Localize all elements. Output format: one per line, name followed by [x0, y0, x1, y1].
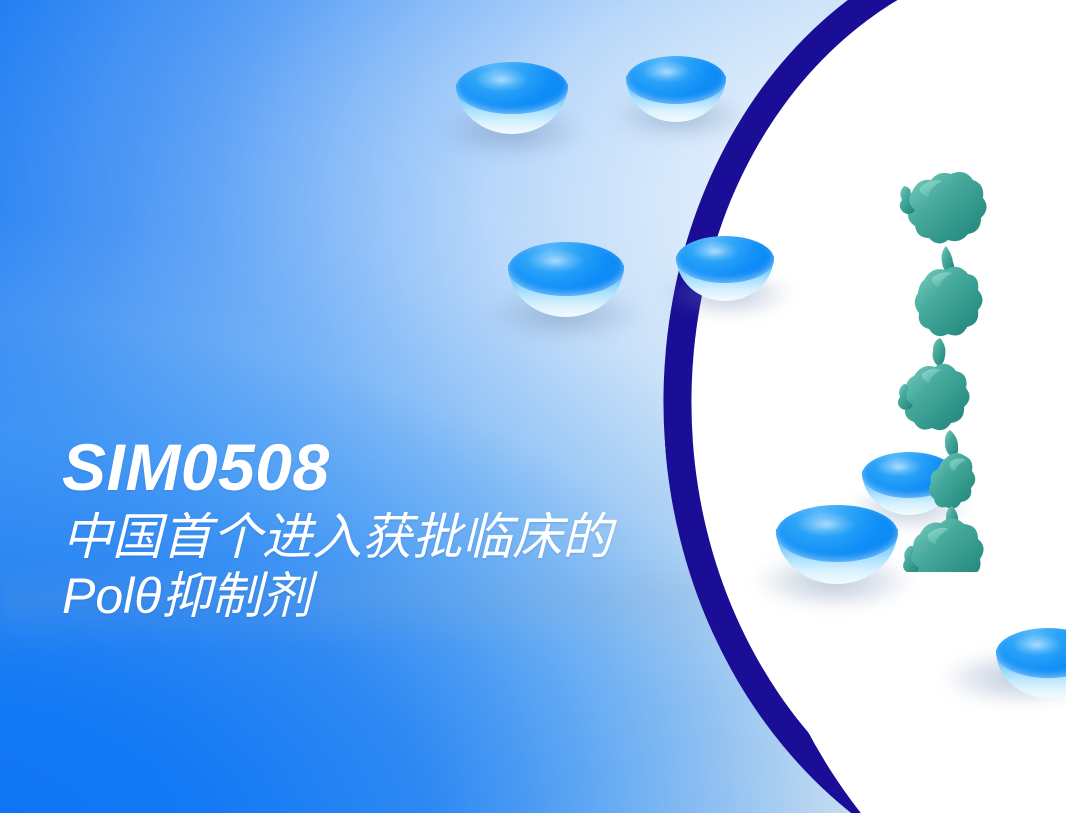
tablet-top-right — [626, 56, 726, 138]
page-title: SIM0508 — [62, 434, 842, 500]
tablet-mid-right — [676, 236, 774, 316]
tablet-mid-left — [508, 242, 624, 334]
polymerase-theta-structure — [898, 162, 1028, 572]
tablet-top-left — [456, 62, 568, 152]
tablet-bottom-right — [996, 628, 1066, 714]
poster-subtitle: 中国首个进入获批临床的 Polθ抑制剂 — [62, 508, 842, 626]
poster-canvas: SIM0508 中国首个进入获批临床的 Polθ抑制剂 — [0, 0, 1066, 813]
poster-text-block: SIM0508 中国首个进入获批临床的 Polθ抑制剂 — [62, 434, 842, 626]
